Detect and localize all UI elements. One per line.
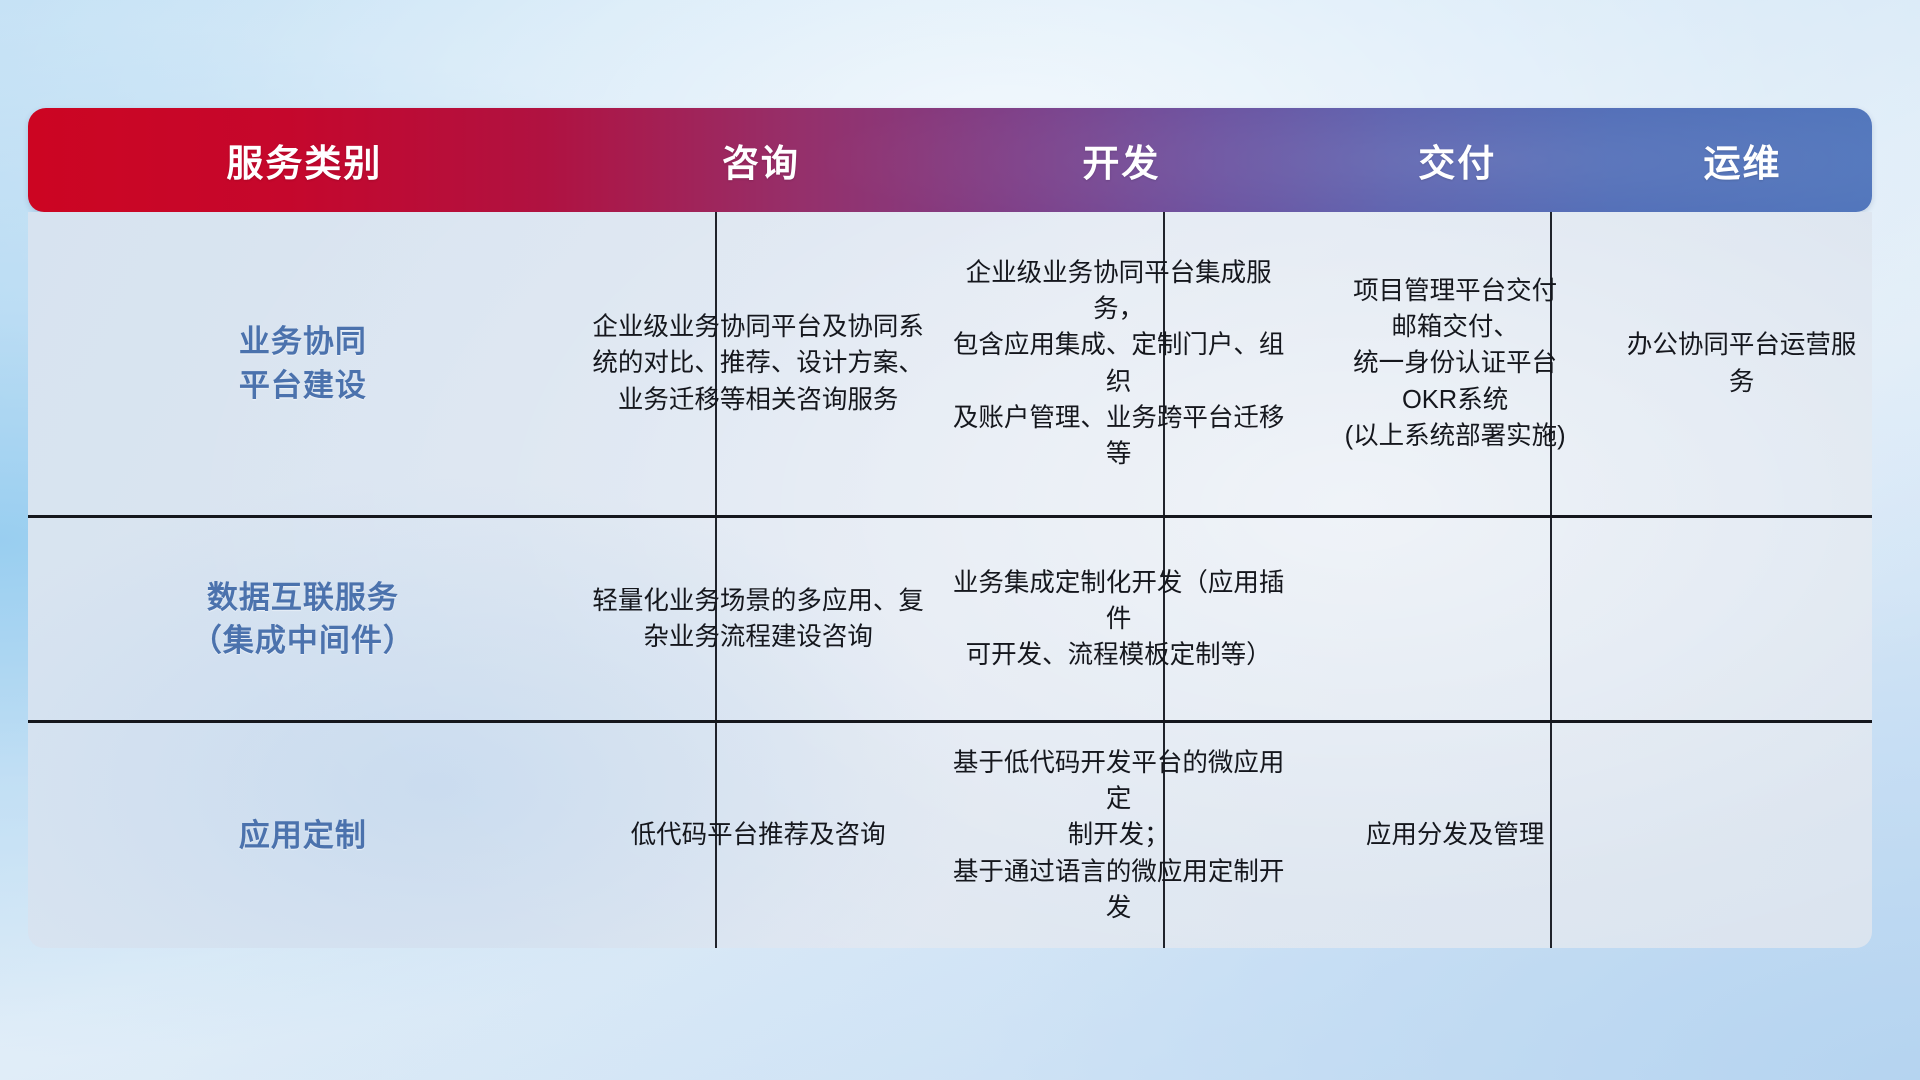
cell-development-r3: 基于低代码开发平台的微应用定 制开发； 基于通过语言的微应用定制开发 bbox=[938, 723, 1299, 948]
table-row: 业务协同 平台建设 企业级业务协同平台及协同系 统的对比、推荐、设计方案、 业务… bbox=[28, 212, 1872, 515]
column-header-delivery: 交付 bbox=[1302, 133, 1613, 187]
cell-delivery-r2 bbox=[1299, 518, 1611, 720]
table-header-row: 服务类别 咨询 开发 交付 运维 bbox=[28, 108, 1872, 212]
cell-delivery-r3: 应用分发及管理 bbox=[1299, 723, 1611, 948]
cell-consulting-r1: 企业级业务协同平台及协同系 统的对比、推荐、设计方案、 业务迁移等相关咨询服务 bbox=[578, 212, 939, 515]
column-header-operations: 运维 bbox=[1613, 133, 1872, 187]
cell-operations-r1: 办公协同平台运营服务 bbox=[1611, 212, 1872, 515]
slide-canvas: 服务类别 咨询 开发 交付 运维 业务协同 平台建设 企业级业务协同平台及协同系… bbox=[0, 0, 1920, 1080]
cell-development-r2: 业务集成定制化开发（应用插件 可开发、流程模板定制等） bbox=[938, 518, 1299, 720]
cell-delivery-r1: 项目管理平台交付 邮箱交付、 统一身份认证平台 OKR系统 (以上系统部署实施) bbox=[1299, 212, 1611, 515]
cell-operations-r3 bbox=[1611, 723, 1872, 948]
column-header-consulting: 咨询 bbox=[581, 133, 941, 187]
table-row: 应用定制 低代码平台推荐及咨询 基于低代码开发平台的微应用定 制开发； 基于通过… bbox=[28, 723, 1872, 948]
cell-development-r1: 企业级业务协同平台集成服务， 包含应用集成、定制门户、组织 及账户管理、业务跨平… bbox=[938, 212, 1299, 515]
column-header-development: 开发 bbox=[941, 133, 1301, 187]
table-row: 数据互联服务 （集成中间件） 轻量化业务场景的多应用、复 杂业务流程建设咨询 业… bbox=[28, 518, 1872, 720]
service-matrix-table: 服务类别 咨询 开发 交付 运维 业务协同 平台建设 企业级业务协同平台及协同系… bbox=[28, 108, 1872, 948]
cell-consulting-r2: 轻量化业务场景的多应用、复 杂业务流程建设咨询 bbox=[578, 518, 939, 720]
cell-operations-r2 bbox=[1611, 518, 1872, 720]
row-label-business-collaboration: 业务协同 平台建设 bbox=[28, 212, 578, 515]
column-header-category: 服务类别 bbox=[28, 133, 581, 187]
row-label-data-integration: 数据互联服务 （集成中间件） bbox=[28, 518, 578, 720]
row-label-app-customization: 应用定制 bbox=[28, 723, 578, 948]
cell-consulting-r3: 低代码平台推荐及咨询 bbox=[578, 723, 939, 948]
table-body: 业务协同 平台建设 企业级业务协同平台及协同系 统的对比、推荐、设计方案、 业务… bbox=[28, 212, 1872, 948]
